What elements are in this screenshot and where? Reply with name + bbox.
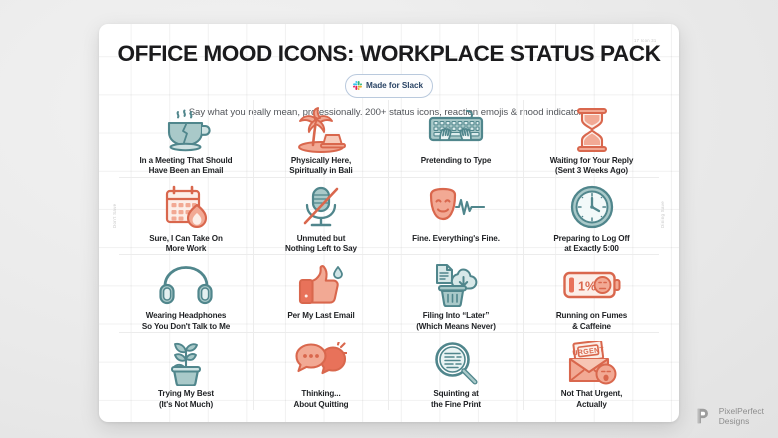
p-monogram-icon — [695, 407, 713, 425]
coffee-cup-icon — [159, 107, 213, 152]
corner-ruler-label: 17 Icon 31 — [634, 38, 657, 43]
poster-card: OFFICE MOOD ICONS: WORKPLACE STATUS PACK — [99, 24, 679, 422]
grid-item-caption: Squinting at the Fine Print — [431, 389, 481, 410]
badge-label: Made for Slack — [366, 81, 423, 90]
grid-cell[interactable]: Filing Into “Later” (Which Means Never) — [389, 255, 524, 333]
grid-cell[interactable]: Physically Here, Spiritually in Bali — [254, 100, 389, 178]
palm-tree-laptop-icon — [295, 107, 347, 152]
page-title: OFFICE MOOD ICONS: WORKPLACE STATUS PACK — [99, 43, 679, 66]
left-edge-label: Don't Save — [112, 204, 117, 228]
grid-item-caption: Wearing Headphones So You Don't Talk to … — [142, 311, 230, 332]
grid-item-caption: Waiting for Your Reply (Sent 3 Weeks Ago… — [550, 156, 634, 177]
grid-cell[interactable]: Preparing to Log Off at Exactly 5:00 — [524, 178, 659, 256]
brand-footer: PixelPerfect Designs — [695, 406, 764, 427]
brand-line-2: Designs — [719, 416, 764, 426]
thumbs-up-sweat-icon — [297, 262, 345, 307]
grid-cell[interactable]: Thinking... About Quitting — [254, 333, 389, 410]
grid-item-caption: Preparing to Log Off at Exactly 5:00 — [553, 234, 629, 255]
calendar-fire-icon — [161, 185, 211, 230]
grid-cell[interactable]: Trying My Best (It's Not Much) — [119, 333, 254, 410]
grid-item-caption: Pretending to Type — [421, 156, 492, 166]
grid-cell[interactable]: In a Meeting That Should Have Been an Em… — [119, 100, 254, 178]
grid-item-caption: In a Meeting That Should Have Been an Em… — [140, 156, 233, 177]
right-edge-label: Dining Save — [660, 201, 665, 228]
grid-item-caption: Trying My Best (It's Not Much) — [158, 389, 214, 410]
grid-item-caption: Not That Urgent, Actually — [561, 389, 622, 410]
low-battery-icon: 1% — [563, 262, 621, 307]
status-badge[interactable]: Made for Slack — [345, 74, 433, 99]
grid-cell[interactable]: Wearing Headphones So You Don't Talk to … — [119, 255, 254, 333]
grid-item-caption: Running on Fumes & Caffeine — [556, 311, 627, 332]
grid-item-caption: Thinking... About Quitting — [294, 389, 349, 410]
icon-grid: In a Meeting That Should Have Been an Em… — [119, 100, 659, 406]
muted-microphone-icon — [300, 185, 342, 230]
urgent-envelope-icon: URGENT — [565, 340, 619, 385]
trash-cloud-file-icon — [429, 262, 483, 307]
grid-cell[interactable]: Waiting for Your Reply (Sent 3 Weeks Ago… — [524, 100, 659, 178]
brand-text: PixelPerfect Designs — [719, 406, 764, 427]
grid-item-caption: Unmuted but Nothing Left to Say — [285, 234, 357, 255]
grid-item-caption: Filing Into “Later” (Which Means Never) — [416, 311, 496, 332]
battery-percent-label: 1% — [578, 279, 596, 293]
grid-cell[interactable]: Unmuted but Nothing Left to Say — [254, 178, 389, 256]
grid-item-caption: Fine. Everything's Fine. — [412, 234, 500, 244]
grid-cell[interactable]: Per My Last Email — [254, 255, 389, 333]
brand-line-1: PixelPerfect — [719, 406, 764, 416]
slack-icon — [353, 77, 362, 95]
grid-cell[interactable]: URGENT Not That Urgent, Actually — [524, 333, 659, 410]
hourglass-icon — [574, 107, 610, 152]
grid-cell[interactable]: Fine. Everything's Fine. — [389, 178, 524, 256]
grid-item-caption: Sure, I Can Take On More Work — [149, 234, 223, 255]
grid-cell[interactable]: Pretending to Type — [389, 100, 524, 178]
grid-item-caption: Per My Last Email — [287, 311, 354, 321]
keyboard-hands-icon — [427, 107, 485, 152]
grid-item-caption: Physically Here, Spiritually in Bali — [289, 156, 352, 177]
potted-plant-icon — [163, 340, 209, 385]
headphones-icon — [159, 262, 213, 307]
smiling-mask-icon — [427, 185, 485, 230]
grid-cell[interactable]: Sure, I Can Take On More Work — [119, 178, 254, 256]
speech-bubbles-icon — [295, 340, 347, 385]
grid-cell[interactable]: Squinting at the Fine Print — [389, 333, 524, 410]
badge-wrapper: Made for Slack — [99, 74, 679, 99]
grid-cell[interactable]: 1% Running on Fumes & Caffeine — [524, 255, 659, 333]
wall-clock-icon — [570, 185, 614, 230]
magnifier-text-icon — [434, 340, 478, 385]
